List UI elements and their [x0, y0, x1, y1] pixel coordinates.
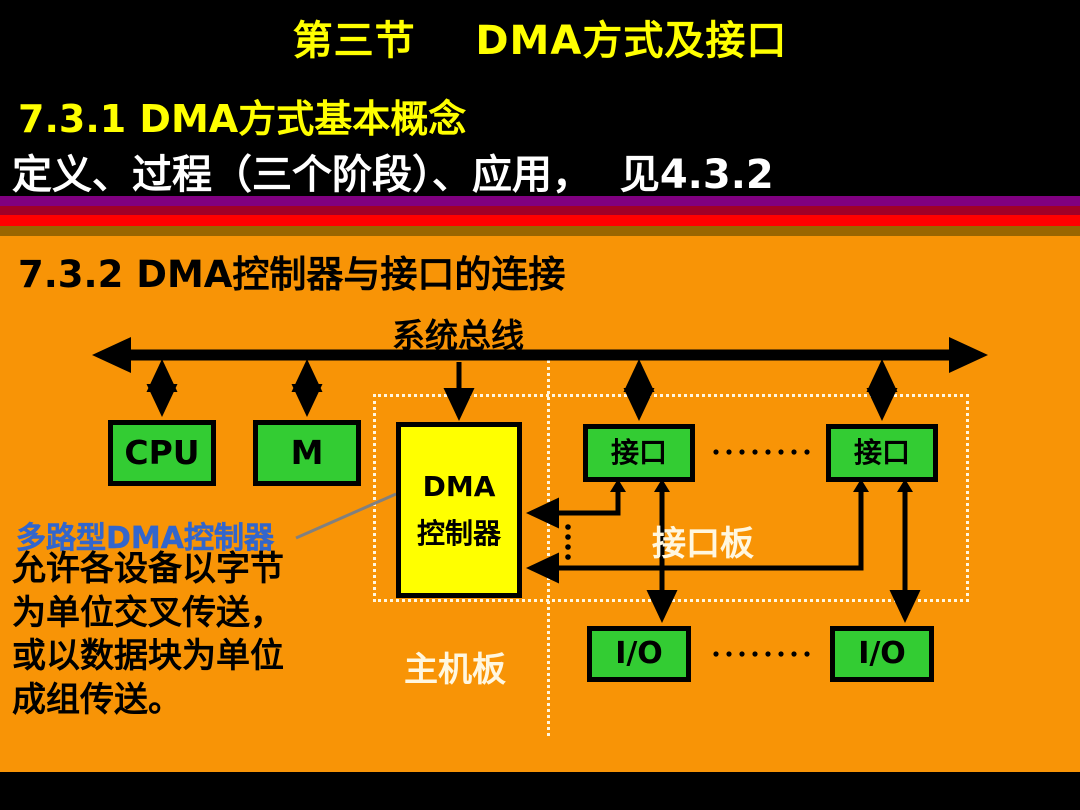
node-io-1-label: I/O	[615, 637, 663, 671]
interface-board-label: 接口板	[652, 516, 754, 565]
node-dma-label-line2: 控制器	[417, 518, 501, 549]
node-io-2-label: I/O	[858, 637, 906, 671]
dma-request-ellipsis-dots	[565, 524, 571, 560]
mainboard-label: 主机板	[404, 642, 506, 691]
system-bus-label: 系统总线	[392, 309, 524, 357]
node-interface-2[interactable]: 接口	[826, 424, 938, 482]
node-interface-2-label: 接口	[854, 437, 910, 468]
divider-band-red	[0, 215, 1080, 226]
interface-ellipsis-dots	[713, 449, 809, 454]
slide-header: 第三节 DMA方式及接口 7.3.1 DMA方式基本概念 定义、过程（三个阶段）…	[0, 0, 1080, 196]
system-bus-line	[92, 337, 988, 373]
node-cpu-label: CPU	[124, 435, 199, 472]
callout-leader-line	[296, 494, 396, 538]
section-heading-7-3-1: 7.3.1 DMA方式基本概念	[18, 88, 466, 143]
node-io-1[interactable]: I/O	[587, 626, 691, 682]
page-title: 第三节 DMA方式及接口	[0, 8, 1080, 66]
section-description-7-3-1: 定义、过程（三个阶段）、应用， 见4.3.2	[12, 142, 774, 200]
node-memory-label: M	[291, 435, 324, 472]
node-memory[interactable]: M	[253, 420, 361, 486]
callout-line-3: 或以数据块为单位	[12, 635, 362, 679]
callout-line-2: 为单位交叉传送，	[12, 592, 362, 636]
node-dma-controller[interactable]: DMA 控制器	[396, 422, 522, 598]
slide-root: 第三节 DMA方式及接口 7.3.1 DMA方式基本概念 定义、过程（三个阶段）…	[0, 0, 1080, 810]
node-interface-1-label: 接口	[611, 437, 667, 468]
node-dma-label-line1: DMA	[423, 471, 496, 502]
interface1-to-dma-request-line	[531, 479, 626, 513]
dma-connection-diagram: 系统总线 接口板 主机板 CPU M DMA 控制器 接口 接口 I/O I/O…	[0, 236, 1080, 772]
slide-footer-strip	[0, 772, 1080, 810]
callout-line-1: 允许各设备以字节	[12, 548, 362, 592]
callout-line-4: 成组传送。	[12, 679, 362, 723]
io-ellipsis-dots	[713, 651, 809, 656]
node-cpu[interactable]: CPU	[108, 420, 216, 486]
divider-band-gold	[0, 226, 1080, 236]
divider-band-darkred	[0, 206, 1080, 215]
callout-body: 允许各设备以字节 为单位交叉传送， 或以数据块为单位 成组传送。	[12, 548, 362, 722]
node-interface-1[interactable]: 接口	[583, 424, 695, 482]
divider-band-purple	[0, 196, 1080, 206]
node-io-2[interactable]: I/O	[830, 626, 934, 682]
interface2-to-io2-connector	[897, 479, 913, 618]
